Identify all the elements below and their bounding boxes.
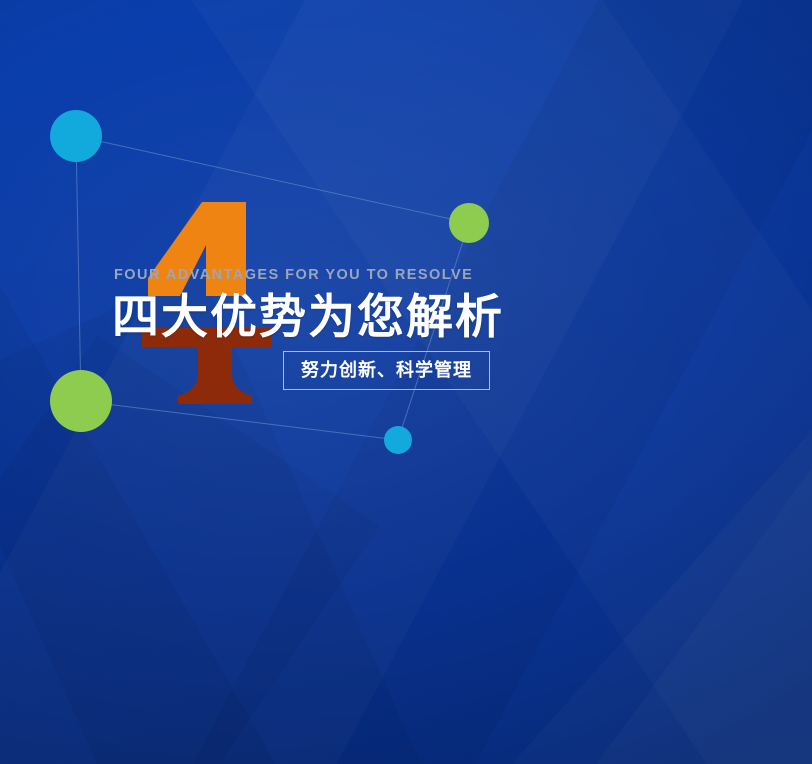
banner-tagline-badge: 努力创新、科学管理: [283, 351, 490, 390]
banner-eyebrow: FOUR ADVANTAGES FOR YOU TO RESOLVE: [114, 268, 752, 283]
banner-text-block: FOUR ADVANTAGES FOR YOU TO RESOLVE 四大优势为…: [112, 268, 752, 341]
banner-headline: 四大优势为您解析: [112, 292, 752, 342]
promo-banner: FOUR ADVANTAGES FOR YOU TO RESOLVE 四大优势为…: [0, 0, 812, 764]
banner-tagline-wrap: 努力创新、科学管理: [283, 351, 490, 390]
